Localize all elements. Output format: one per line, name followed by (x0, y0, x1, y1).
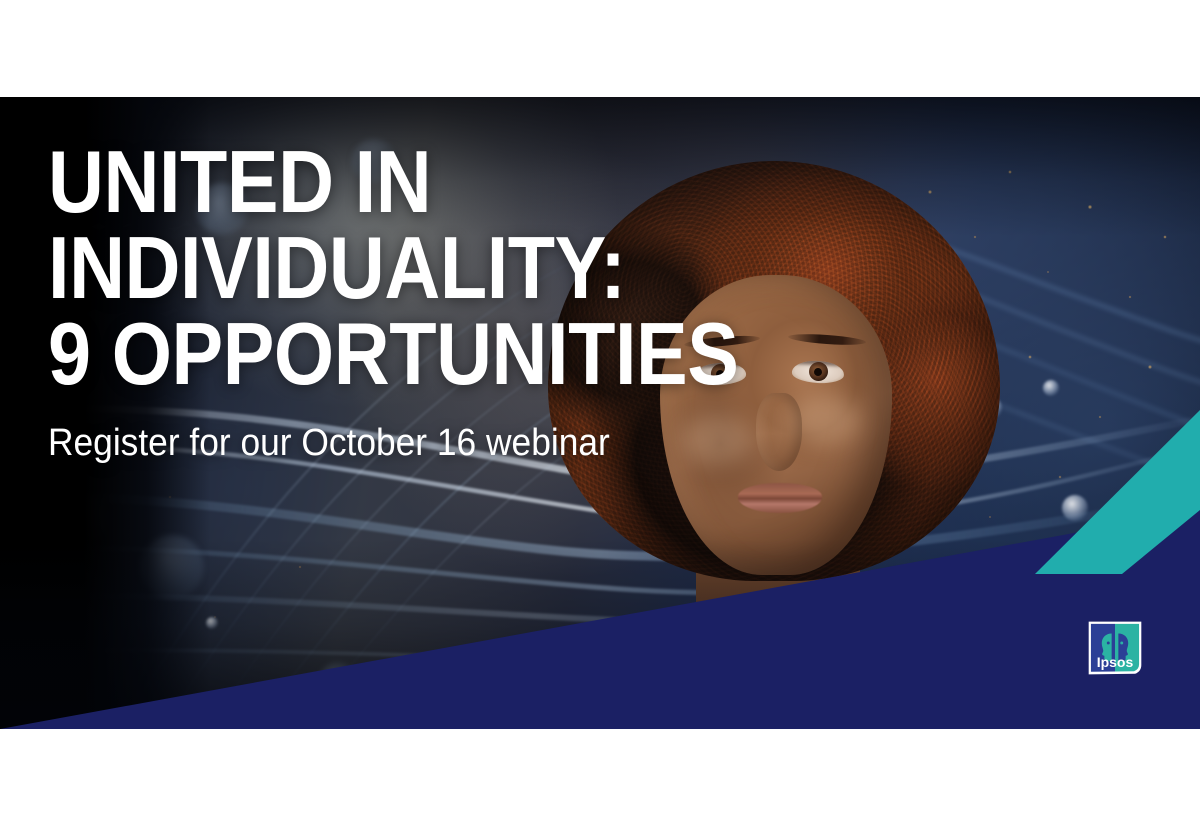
ipsos-logo-icon: Ipsos (1087, 620, 1143, 676)
lips (738, 483, 822, 513)
promo-banner: UNITED IN INDIVIDUALITY: 9 OPPORTUNITIES… (0, 97, 1200, 729)
subtitle: Register for our October 16 webinar (48, 424, 978, 464)
page-title: UNITED IN INDIVIDUALITY: 9 OPPORTUNITIES (48, 139, 928, 398)
ipsos-wordmark: Ipsos (1097, 654, 1134, 670)
headline-block: UNITED IN INDIVIDUALITY: 9 OPPORTUNITIES… (48, 139, 1048, 464)
ipsos-logo[interactable]: Ipsos (1087, 620, 1143, 676)
